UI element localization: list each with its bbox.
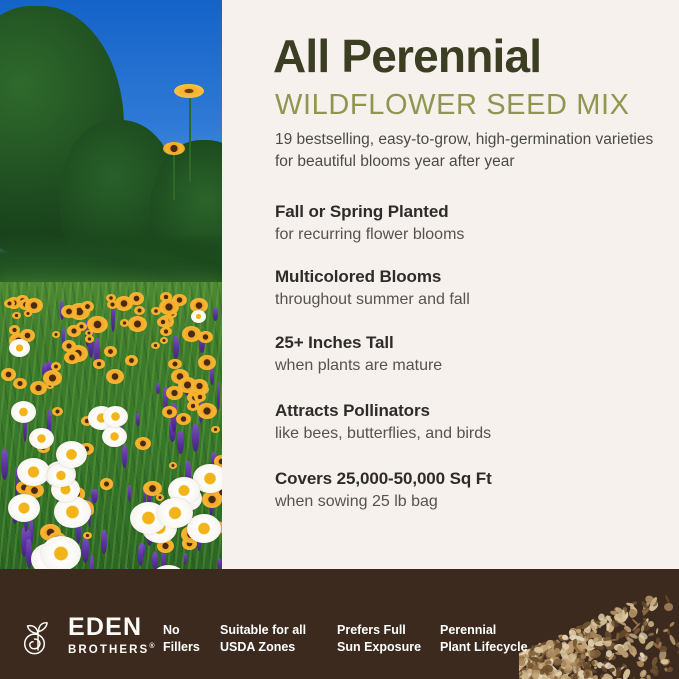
- black-eyed-susan: [100, 478, 114, 489]
- seed: [651, 663, 660, 676]
- badge-line2: Sun Exposure: [337, 639, 421, 656]
- purple-salvia: [156, 383, 160, 394]
- feature-heading: Multicolored Blooms: [275, 266, 675, 287]
- feature-subtext: for recurring flower blooms: [275, 225, 675, 246]
- black-eyed-susan: [125, 355, 138, 366]
- seed: [604, 640, 611, 646]
- badge-line1: Perennial: [440, 622, 528, 639]
- badge-sun-exposure: Prefers Full Sun Exposure: [337, 622, 421, 657]
- black-eyed-susan: [104, 346, 117, 357]
- badge-plant-lifecycle: Perennial Plant Lifecycle: [440, 622, 528, 657]
- shasta-daisy: [41, 536, 81, 571]
- purple-salvia: [173, 336, 179, 359]
- shasta-daisy: [191, 310, 206, 323]
- seed: [660, 659, 668, 664]
- product-subtitle: WILDFLOWER SEED MIX: [275, 90, 630, 122]
- purple-salvia: [128, 485, 131, 501]
- logo-wordmark: EDEN BROTHERS®: [68, 615, 157, 656]
- black-eyed-susan: [120, 319, 129, 327]
- black-eyed-susan: [93, 359, 105, 368]
- feature-subtext: when sowing 25 lb bag: [275, 492, 675, 513]
- feature-heading: 25+ Inches Tall: [275, 332, 675, 353]
- black-eyed-susan: [128, 316, 147, 332]
- black-eyed-susan: [106, 294, 116, 302]
- feature-item: 25+ Inches Tall when plants are mature: [275, 332, 675, 377]
- purple-salvia: [210, 367, 213, 385]
- black-eyed-susan: [24, 310, 33, 317]
- black-eyed-susan: [187, 401, 198, 410]
- black-eyed-susan: [191, 379, 208, 393]
- flower-stem: [173, 150, 175, 200]
- black-eyed-susan: [106, 369, 124, 384]
- black-eyed-susan: [143, 481, 161, 496]
- flower-stem: [189, 96, 191, 182]
- purple-salvia: [91, 489, 97, 504]
- seed: [546, 651, 557, 658]
- black-eyed-susan: [176, 413, 191, 425]
- shasta-daisy: [56, 441, 87, 468]
- black-eyed-susan: [157, 317, 169, 327]
- seed: [664, 603, 673, 611]
- logo-eden-text: EDEN: [68, 615, 157, 640]
- feature-heading: Fall or Spring Planted: [275, 201, 675, 222]
- seed: [615, 667, 622, 678]
- badge-usda-zones: Suitable for all USDA Zones: [220, 622, 306, 657]
- black-eyed-susan: [81, 301, 94, 312]
- badge-line2: USDA Zones: [220, 639, 306, 656]
- badge-line1: Suitable for all: [220, 622, 306, 639]
- badge-line2: Plant Lifecycle: [440, 639, 528, 656]
- black-eyed-susan: [129, 292, 145, 305]
- black-eyed-susan: [198, 355, 216, 370]
- seed: [642, 609, 647, 613]
- black-eyed-susan: [64, 351, 80, 364]
- black-eyed-susan: [43, 370, 62, 386]
- feature-item: Multicolored Blooms throughout summer an…: [275, 266, 675, 311]
- brand-footer-band: EDEN BROTHERS® No Fillers Suitable for a…: [0, 569, 679, 679]
- black-eyed-susan: [85, 335, 94, 343]
- shasta-daisy: [187, 514, 221, 543]
- feature-heading: Covers 25,000-50,000 Sq Ft: [275, 468, 675, 489]
- feature-item: Fall or Spring Planted for recurring flo…: [275, 201, 675, 246]
- seed: [656, 628, 659, 634]
- black-eyed-susan: [1, 368, 16, 380]
- black-eyed-susan: [52, 331, 60, 338]
- seed: [668, 622, 674, 628]
- product-copy-panel: All Perennial WILDFLOWER SEED MIX 19 bes…: [222, 0, 679, 617]
- black-eyed-susan: [160, 337, 168, 344]
- feature-heading: Attracts Pollinators: [275, 400, 675, 421]
- logo-brothers-text: BROTHERS®: [68, 643, 157, 656]
- feature-item: Attracts Pollinators like bees, butterfl…: [275, 400, 675, 445]
- black-eyed-susan: [159, 299, 179, 315]
- black-eyed-susan: [168, 359, 181, 370]
- product-lede: 19 bestselling, easy-to-grow, high-germi…: [275, 129, 655, 173]
- wildflower-meadow-photo: [0, 0, 222, 617]
- black-eyed-susan: [163, 142, 185, 155]
- wildflower-seed-pile: [519, 571, 679, 679]
- black-eyed-susan: [169, 462, 178, 469]
- seed: [589, 651, 594, 656]
- lone-orange-flower: [174, 84, 204, 98]
- black-eyed-susan: [135, 437, 151, 450]
- badge-line2: Fillers: [163, 639, 200, 656]
- seed: [666, 666, 674, 674]
- seed: [616, 632, 620, 640]
- seed: [647, 632, 653, 636]
- feature-subtext: throughout summer and fall: [275, 290, 675, 311]
- badge-line1: No: [163, 622, 200, 639]
- purple-salvia: [177, 431, 184, 454]
- black-eyed-susan: [202, 491, 222, 507]
- badge-no-fillers: No Fillers: [163, 622, 200, 657]
- feature-subtext: like bees, butterflies, and birds: [275, 424, 675, 445]
- feature-item: Covers 25,000-50,000 Sq Ft when sowing 2…: [275, 468, 675, 513]
- badge-line1: Prefers Full: [337, 622, 421, 639]
- product-title: All Perennial: [273, 32, 541, 80]
- shasta-daisy: [9, 339, 30, 357]
- purple-salvia: [1, 449, 8, 479]
- eden-brothers-logo: EDEN BROTHERS®: [17, 615, 157, 657]
- seed: [675, 641, 679, 647]
- black-eyed-susan: [12, 312, 21, 319]
- black-eyed-susan: [194, 392, 206, 402]
- black-eyed-susan: [51, 362, 61, 370]
- product-infographic: All Perennial WILDFLOWER SEED MIX 19 bes…: [0, 0, 679, 679]
- shasta-daisy: [11, 401, 36, 423]
- purple-salvia: [136, 413, 139, 426]
- sprout-seedling-icon: [17, 615, 59, 657]
- feature-subtext: when plants are mature: [275, 356, 675, 377]
- purple-salvia: [192, 424, 199, 452]
- shasta-daisy: [103, 406, 128, 427]
